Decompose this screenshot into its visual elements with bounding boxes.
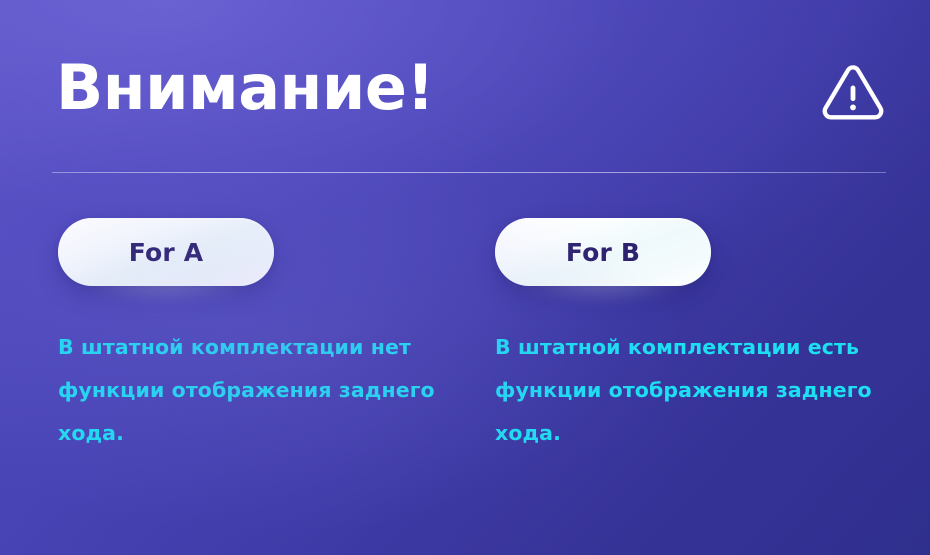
page-title: Внимание! (56, 52, 434, 124)
for-b-button[interactable]: For B (495, 218, 711, 286)
column-for-a: For A В штатной комплектации нет функции… (58, 218, 458, 288)
for-b-button-label: For B (566, 240, 640, 265)
header-divider (52, 172, 886, 173)
column-for-b: For B В штатной комплектации есть функци… (495, 218, 895, 288)
warning-slide: Внимание! For A В штатной комплектации н… (0, 0, 930, 555)
column-b-description: В штатной комплектации есть функции отоб… (495, 326, 887, 455)
pill-wrap-a: For A (58, 218, 274, 288)
pill-wrap-b: For B (495, 218, 711, 288)
for-a-button-label: For A (129, 240, 204, 265)
warning-triangle-icon (822, 64, 884, 122)
header: Внимание! (56, 52, 884, 132)
for-a-button[interactable]: For A (58, 218, 274, 286)
column-a-description: В штатной комплектации нет функции отобр… (58, 326, 446, 455)
